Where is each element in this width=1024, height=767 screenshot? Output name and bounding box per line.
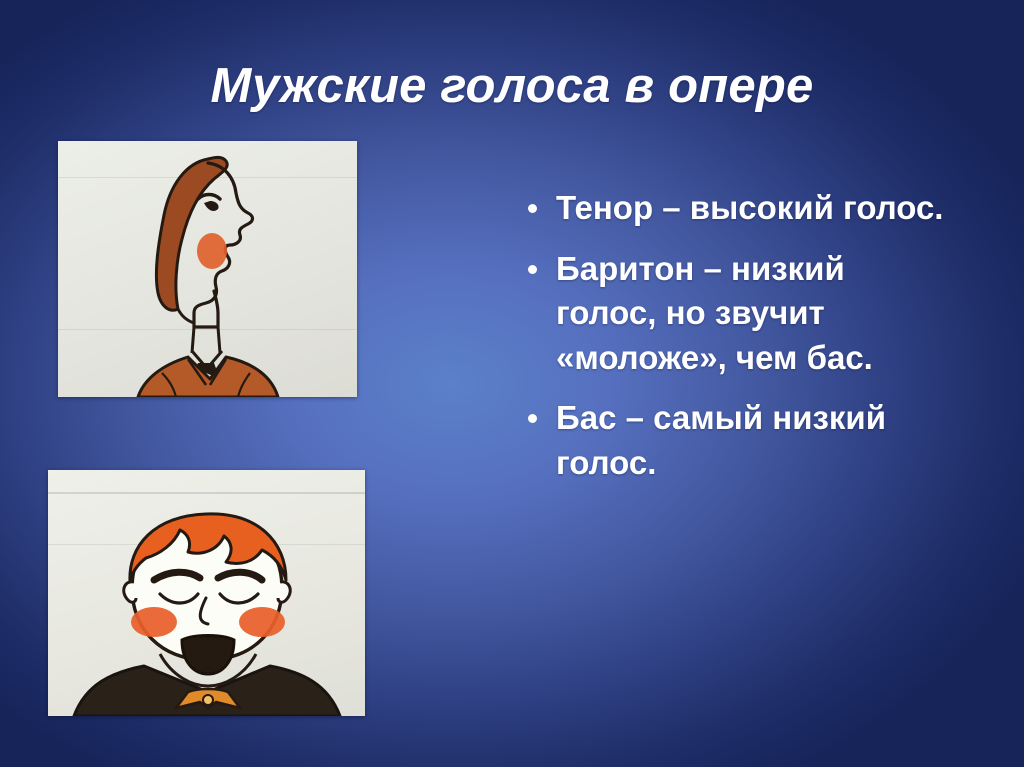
slide-canvas: Мужские голоса в опере (0, 0, 1024, 767)
bullet-dot-icon (528, 204, 537, 213)
bullet-text-bariton: Баритон – низкий голос, но звучит «молож… (556, 247, 948, 381)
list-item: Баритон – низкий голос, но звучит «молож… (528, 247, 948, 381)
tenor-drawing-svg (58, 141, 357, 397)
list-item: Бас – самый низкий голос. (528, 396, 948, 485)
bullet-dot-icon (528, 265, 537, 274)
list-item: Тенор – высокий голос. (528, 186, 948, 231)
page-title: Мужские голоса в опере (0, 58, 1024, 114)
bullet-text-bas: Бас – самый низкий голос. (556, 396, 948, 485)
bullet-text-tenor: Тенор – высокий голос. (556, 186, 943, 231)
bullet-list: Тенор – высокий голос. Баритон – низкий … (528, 186, 948, 501)
bass-drawing-svg (48, 470, 365, 716)
bass-illustration (48, 470, 365, 716)
tenor-illustration (58, 141, 357, 397)
bullet-dot-icon (528, 414, 537, 423)
